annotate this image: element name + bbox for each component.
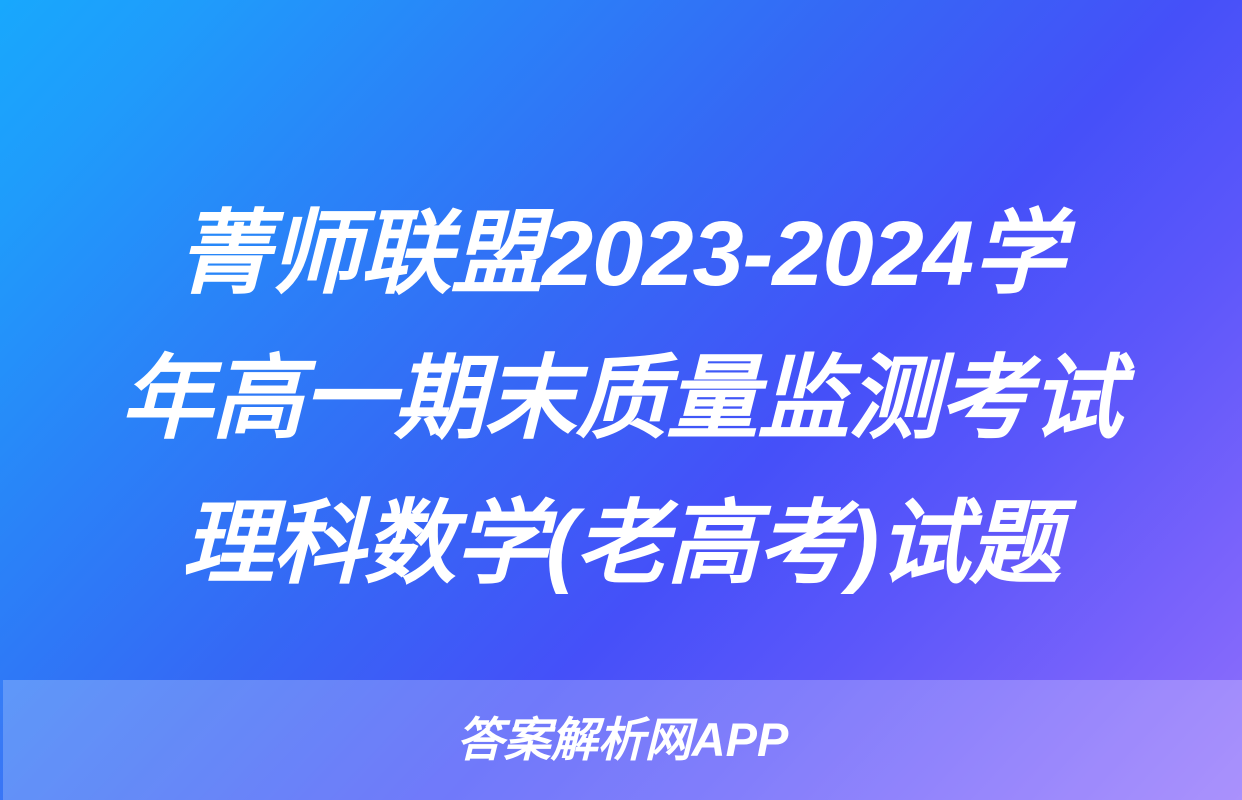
footer-band: 答案解析网APP: [3, 680, 1242, 800]
title-line-2: 年高一期末质量监测考试: [38, 327, 1204, 472]
app-watermark-label: 答案解析网APP: [457, 716, 789, 763]
title-line-1: 菁师联盟2023-2024学: [38, 182, 1204, 327]
title-line-3: 理科数学(老高考)试题: [38, 472, 1204, 617]
poster-canvas: 菁师联盟2023-2024学 年高一期末质量监测考试 理科数学(老高考)试题 答…: [0, 0, 1242, 800]
page-title: 菁师联盟2023-2024学 年高一期末质量监测考试 理科数学(老高考)试题: [0, 182, 1242, 617]
